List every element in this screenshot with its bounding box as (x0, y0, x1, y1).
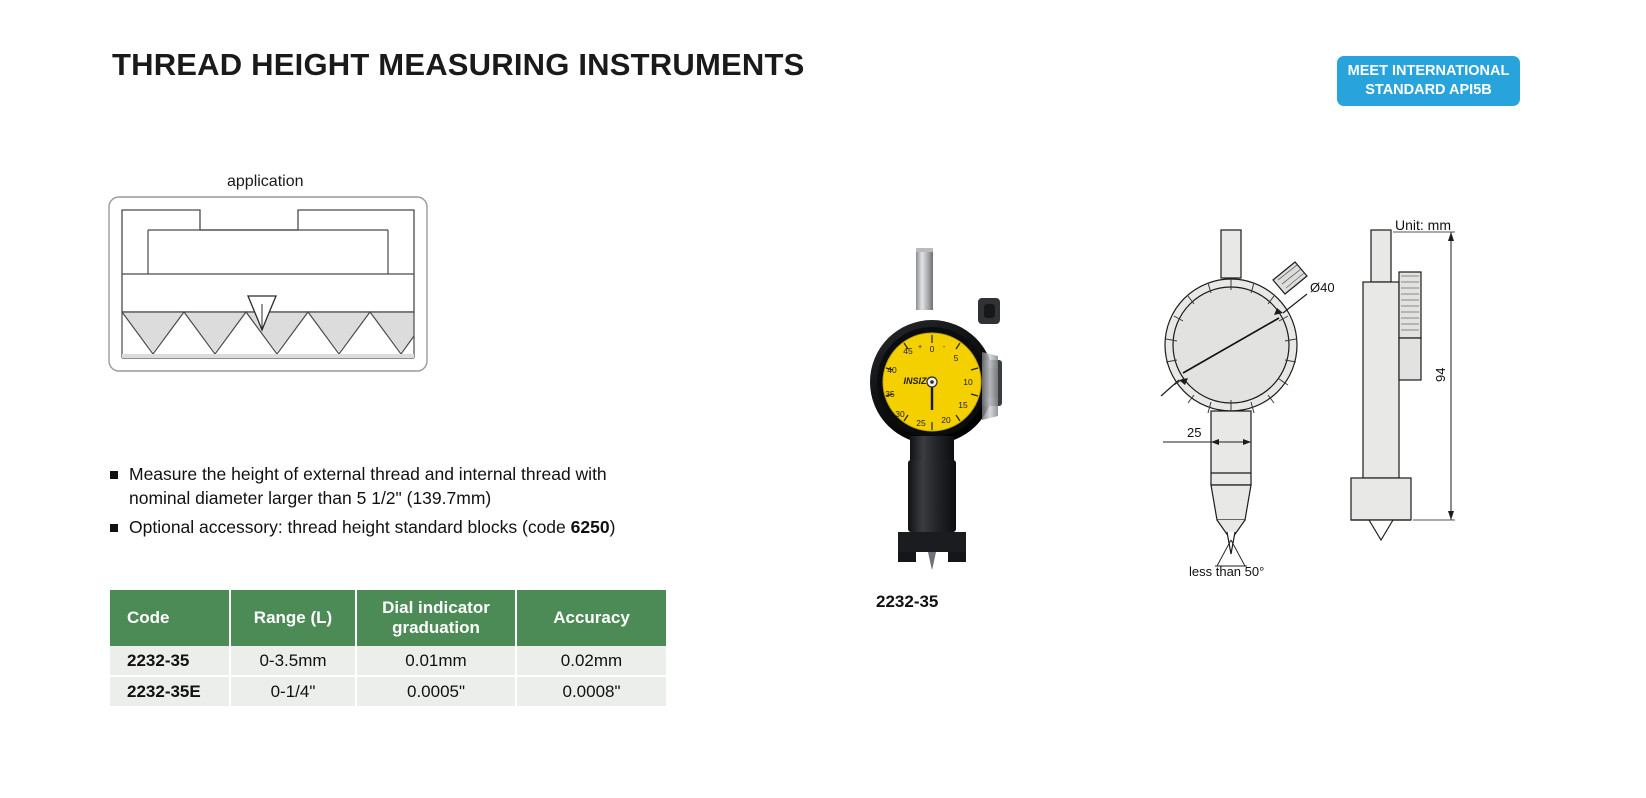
badge-line-2: STANDARD API5B (1365, 81, 1491, 100)
page-title: THREAD HEIGHT MEASURING INSTRUMENTS (112, 47, 804, 83)
column-header-range: Range (L) (230, 590, 356, 646)
specification-table: Code Range (L) Dial indicator graduation… (110, 590, 666, 706)
cell-graduation: 0.01mm (356, 646, 516, 676)
dial-tick-30: 30 (895, 409, 905, 419)
accessory-code: 6250 (571, 517, 610, 537)
dim-94-label: 94 (1433, 368, 1448, 382)
cell-range: 0-1/4" (230, 676, 356, 706)
cell-accuracy: 0.0008" (516, 676, 666, 706)
dial-tick-10: 10 (963, 377, 973, 387)
feature-text-1: Measure the height of external thread an… (129, 462, 607, 510)
bullet-square-icon (110, 471, 118, 479)
feature-1-line-2: nominal diameter larger than 5 1/2" (139… (129, 488, 491, 508)
bullet-square-icon (110, 524, 118, 532)
angle-note-label: less than 50° (1189, 564, 1264, 579)
table-header-row: Code Range (L) Dial indicator graduation… (110, 590, 666, 646)
table-row: 2232-35E 0-1/4" 0.0005" 0.0008" (110, 676, 666, 706)
application-diagram (108, 196, 428, 372)
dim-25-label: 25 (1187, 425, 1201, 440)
standard-badge: MEET INTERNATIONAL STANDARD API5B (1337, 56, 1520, 106)
dial-tick-5: 5 (954, 353, 959, 363)
dim-diameter-label: Ø40 (1310, 280, 1335, 295)
column-header-accuracy: Accuracy (516, 590, 666, 646)
product-photo: 0 5 10 15 20 25 30 35 40 45 + - INSIZE (858, 240, 1058, 570)
dial-plus-sign: + (918, 344, 922, 351)
graduation-header-line-1: Dial indicator (382, 598, 490, 617)
column-header-code: Code (110, 590, 230, 646)
technical-drawing: Ø40 25 less than 50° 94 (1155, 210, 1485, 580)
feature-list: Measure the height of external thread an… (110, 462, 750, 544)
dial-tick-0: 0 (930, 344, 935, 354)
cell-accuracy: 0.02mm (516, 646, 666, 676)
dial-tick-35: 35 (885, 389, 895, 399)
feature-1-line-1: Measure the height of external thread an… (129, 464, 607, 484)
feature-2-suffix: ) (610, 517, 616, 537)
cell-graduation: 0.0005" (356, 676, 516, 706)
dial-tick-15: 15 (958, 400, 968, 410)
application-label: application (227, 173, 304, 191)
cell-range: 0-3.5mm (230, 646, 356, 676)
badge-line-1: MEET INTERNATIONAL (1348, 62, 1510, 81)
graduation-header-line-2: graduation (392, 618, 480, 637)
list-item: Optional accessory: thread height standa… (110, 515, 750, 539)
dial-tick-25: 25 (916, 418, 926, 428)
dial-tick-20: 20 (941, 415, 951, 425)
list-item: Measure the height of external thread an… (110, 462, 750, 510)
table-row: 2232-35 0-3.5mm 0.01mm 0.02mm (110, 646, 666, 676)
catalog-page: THREAD HEIGHT MEASURING INSTRUMENTS MEET… (0, 0, 1646, 798)
cell-code: 2232-35 (110, 646, 230, 676)
feature-2-prefix: Optional accessory: thread height standa… (129, 517, 571, 537)
dial-tick-40: 40 (887, 365, 897, 375)
column-header-graduation: Dial indicator graduation (356, 590, 516, 646)
dial-tick-45: 45 (903, 346, 913, 356)
cell-code: 2232-35E (110, 676, 230, 706)
product-code-label: 2232-35 (876, 592, 938, 612)
feature-text-2: Optional accessory: thread height standa… (129, 515, 615, 539)
